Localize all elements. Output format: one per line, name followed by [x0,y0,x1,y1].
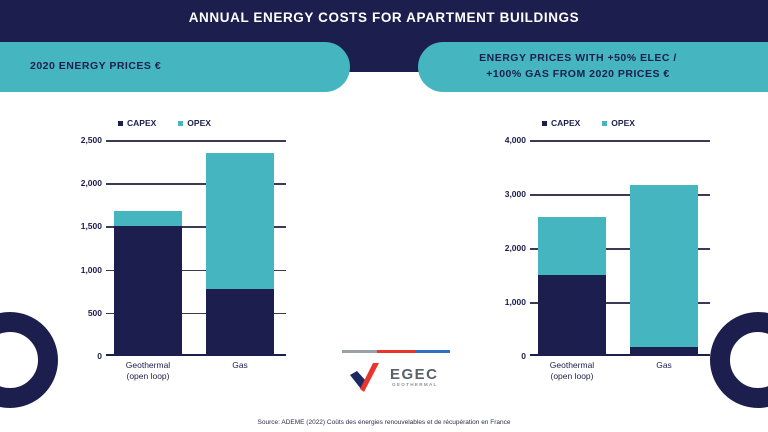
bar-segment-opex [114,211,182,227]
logo-tricolor-rule-icon [342,350,450,353]
plot-area-right [530,140,710,356]
bar-gas [206,153,274,356]
decorative-ring-left-icon [0,312,58,408]
x-axis-label-geothermal-line2: (open loop) [522,371,622,382]
gridline [530,140,710,142]
section-pill-2020-prices: 2020 ENERGY PRICES € [0,42,350,92]
section-pill-right-line1: ENERGY PRICES WITH +50% ELEC / [428,51,728,67]
bar-segment-capex [114,226,182,356]
y-axis-tick-label: 2,000 [81,178,102,188]
source-citation: Source: ADEME (2022) Coûts des énergies … [0,419,768,426]
legend-label-capex: CAPEX [127,118,156,128]
legend-label-opex: OPEX [611,118,635,128]
x-axis-label-gas-line1: Gas [232,360,248,370]
logo-wordmark: EGEC [390,366,439,383]
bar-segment-capex [538,275,606,356]
bar-segment-opex [206,153,274,290]
x-axis-label-geothermal-line1: Geothermal [126,360,170,370]
legend-item-capex: CAPEX [542,118,580,128]
x-axis-label-gas-line1: Gas [656,360,672,370]
legend-swatch-opex-icon [178,121,183,126]
logo-tagline: GEOTHERMAL [392,382,438,387]
x-axis-label-geothermal: Geothermal (open loop) [98,360,198,383]
bar-segment-capex [206,289,274,356]
bar-gas [630,185,698,356]
y-axis-tick-label: 1,500 [81,221,102,231]
chart-increased-prices: CAPEX OPEX 01,0002,0003,0004,000 Geother… [486,118,736,398]
section-pill-left-label: 2020 ENERGY PRICES € [0,59,350,75]
chart-legend-left: CAPEX OPEX [118,118,211,128]
y-axis-tick-label: 4,000 [505,135,526,145]
x-axis-label-geothermal-line1: Geothermal [550,360,594,370]
section-pill-right-label: ENERGY PRICES WITH +50% ELEC / +100% GAS… [418,51,728,83]
x-axis-label-geothermal-line2: (open loop) [98,371,198,382]
legend-label-capex: CAPEX [551,118,580,128]
y-axis-tick-label: 2,000 [505,243,526,253]
bar-geothermal [114,211,182,356]
bar-geothermal [538,217,606,356]
bar-segment-opex [538,217,606,275]
y-axis-tick-label: 2,500 [81,135,102,145]
bar-segment-opex [630,185,698,348]
y-axis-labels-left: 05001,0001,5002,0002,500 [62,140,102,356]
legend-item-opex: OPEX [602,118,635,128]
y-axis-tick-label: 3,000 [505,189,526,199]
x-axis-label-gas: Gas [192,360,288,371]
plot-area-left [106,140,286,356]
legend-swatch-capex-icon [118,121,123,126]
y-axis-tick-label: 1,000 [505,297,526,307]
x-axis-label-geothermal: Geothermal (open loop) [522,360,622,383]
legend-label-opex: OPEX [187,118,211,128]
x-axis-labels-right: Geothermal (open loop) Gas [530,360,710,400]
egec-logo: EGEC GEOTHERMAL [326,350,458,398]
x-axis-labels-left: Geothermal (open loop) Gas [106,360,286,400]
page-title: ANNUAL ENERGY COSTS FOR APARTMENT BUILDI… [0,10,768,25]
legend-swatch-capex-icon [542,121,547,126]
section-pill-increased-prices: ENERGY PRICES WITH +50% ELEC / +100% GAS… [418,42,768,92]
legend-swatch-opex-icon [602,121,607,126]
x-axis-label-gas: Gas [616,360,712,371]
bar-segment-capex [630,347,698,356]
gridline [106,140,286,142]
y-axis-labels-right: 01,0002,0003,0004,000 [486,140,526,356]
legend-item-capex: CAPEX [118,118,156,128]
y-axis-tick-label: 1,000 [81,265,102,275]
chart-2020-prices: CAPEX OPEX 05001,0001,5002,0002,500 Geot… [62,118,312,398]
y-axis-tick-label: 500 [88,308,102,318]
legend-item-opex: OPEX [178,118,211,128]
section-pill-right-line2: +100% GAS FROM 2020 PRICES € [428,67,728,83]
chart-legend-right: CAPEX OPEX [542,118,635,128]
logo-checkmark-icon [348,362,388,392]
